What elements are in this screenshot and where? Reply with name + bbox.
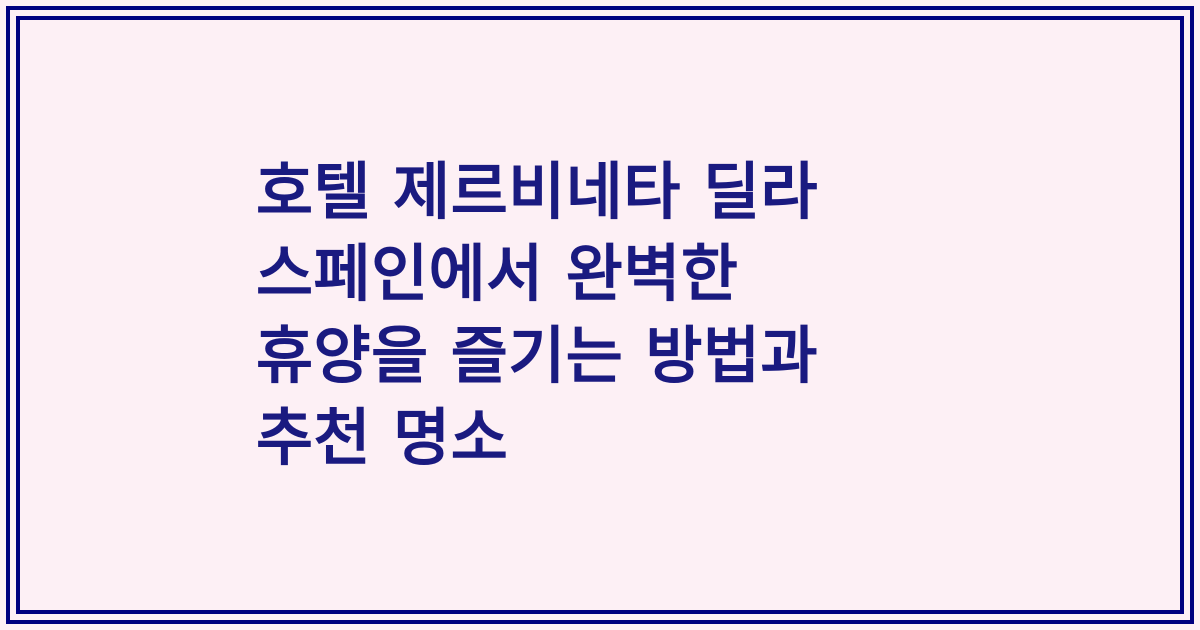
headline-container: 호텔 제르비네타 딜라 스페인에서 완벽한 휴양을 즐기는 방법과 추천 명소: [0, 0, 1200, 630]
headline-line-3: 휴양을 즐기는 방법과: [256, 315, 950, 397]
headline-line-1: 호텔 제르비네타 딜라: [256, 151, 950, 233]
page-title: 호텔 제르비네타 딜라 스페인에서 완벽한 휴양을 즐기는 방법과 추천 명소: [250, 151, 950, 479]
headline-line-4: 추천 명소: [256, 397, 950, 479]
og-card: 호텔 제르비네타 딜라 스페인에서 완벽한 휴양을 즐기는 방법과 추천 명소: [0, 0, 1200, 630]
headline-line-2: 스페인에서 완벽한: [256, 233, 950, 315]
